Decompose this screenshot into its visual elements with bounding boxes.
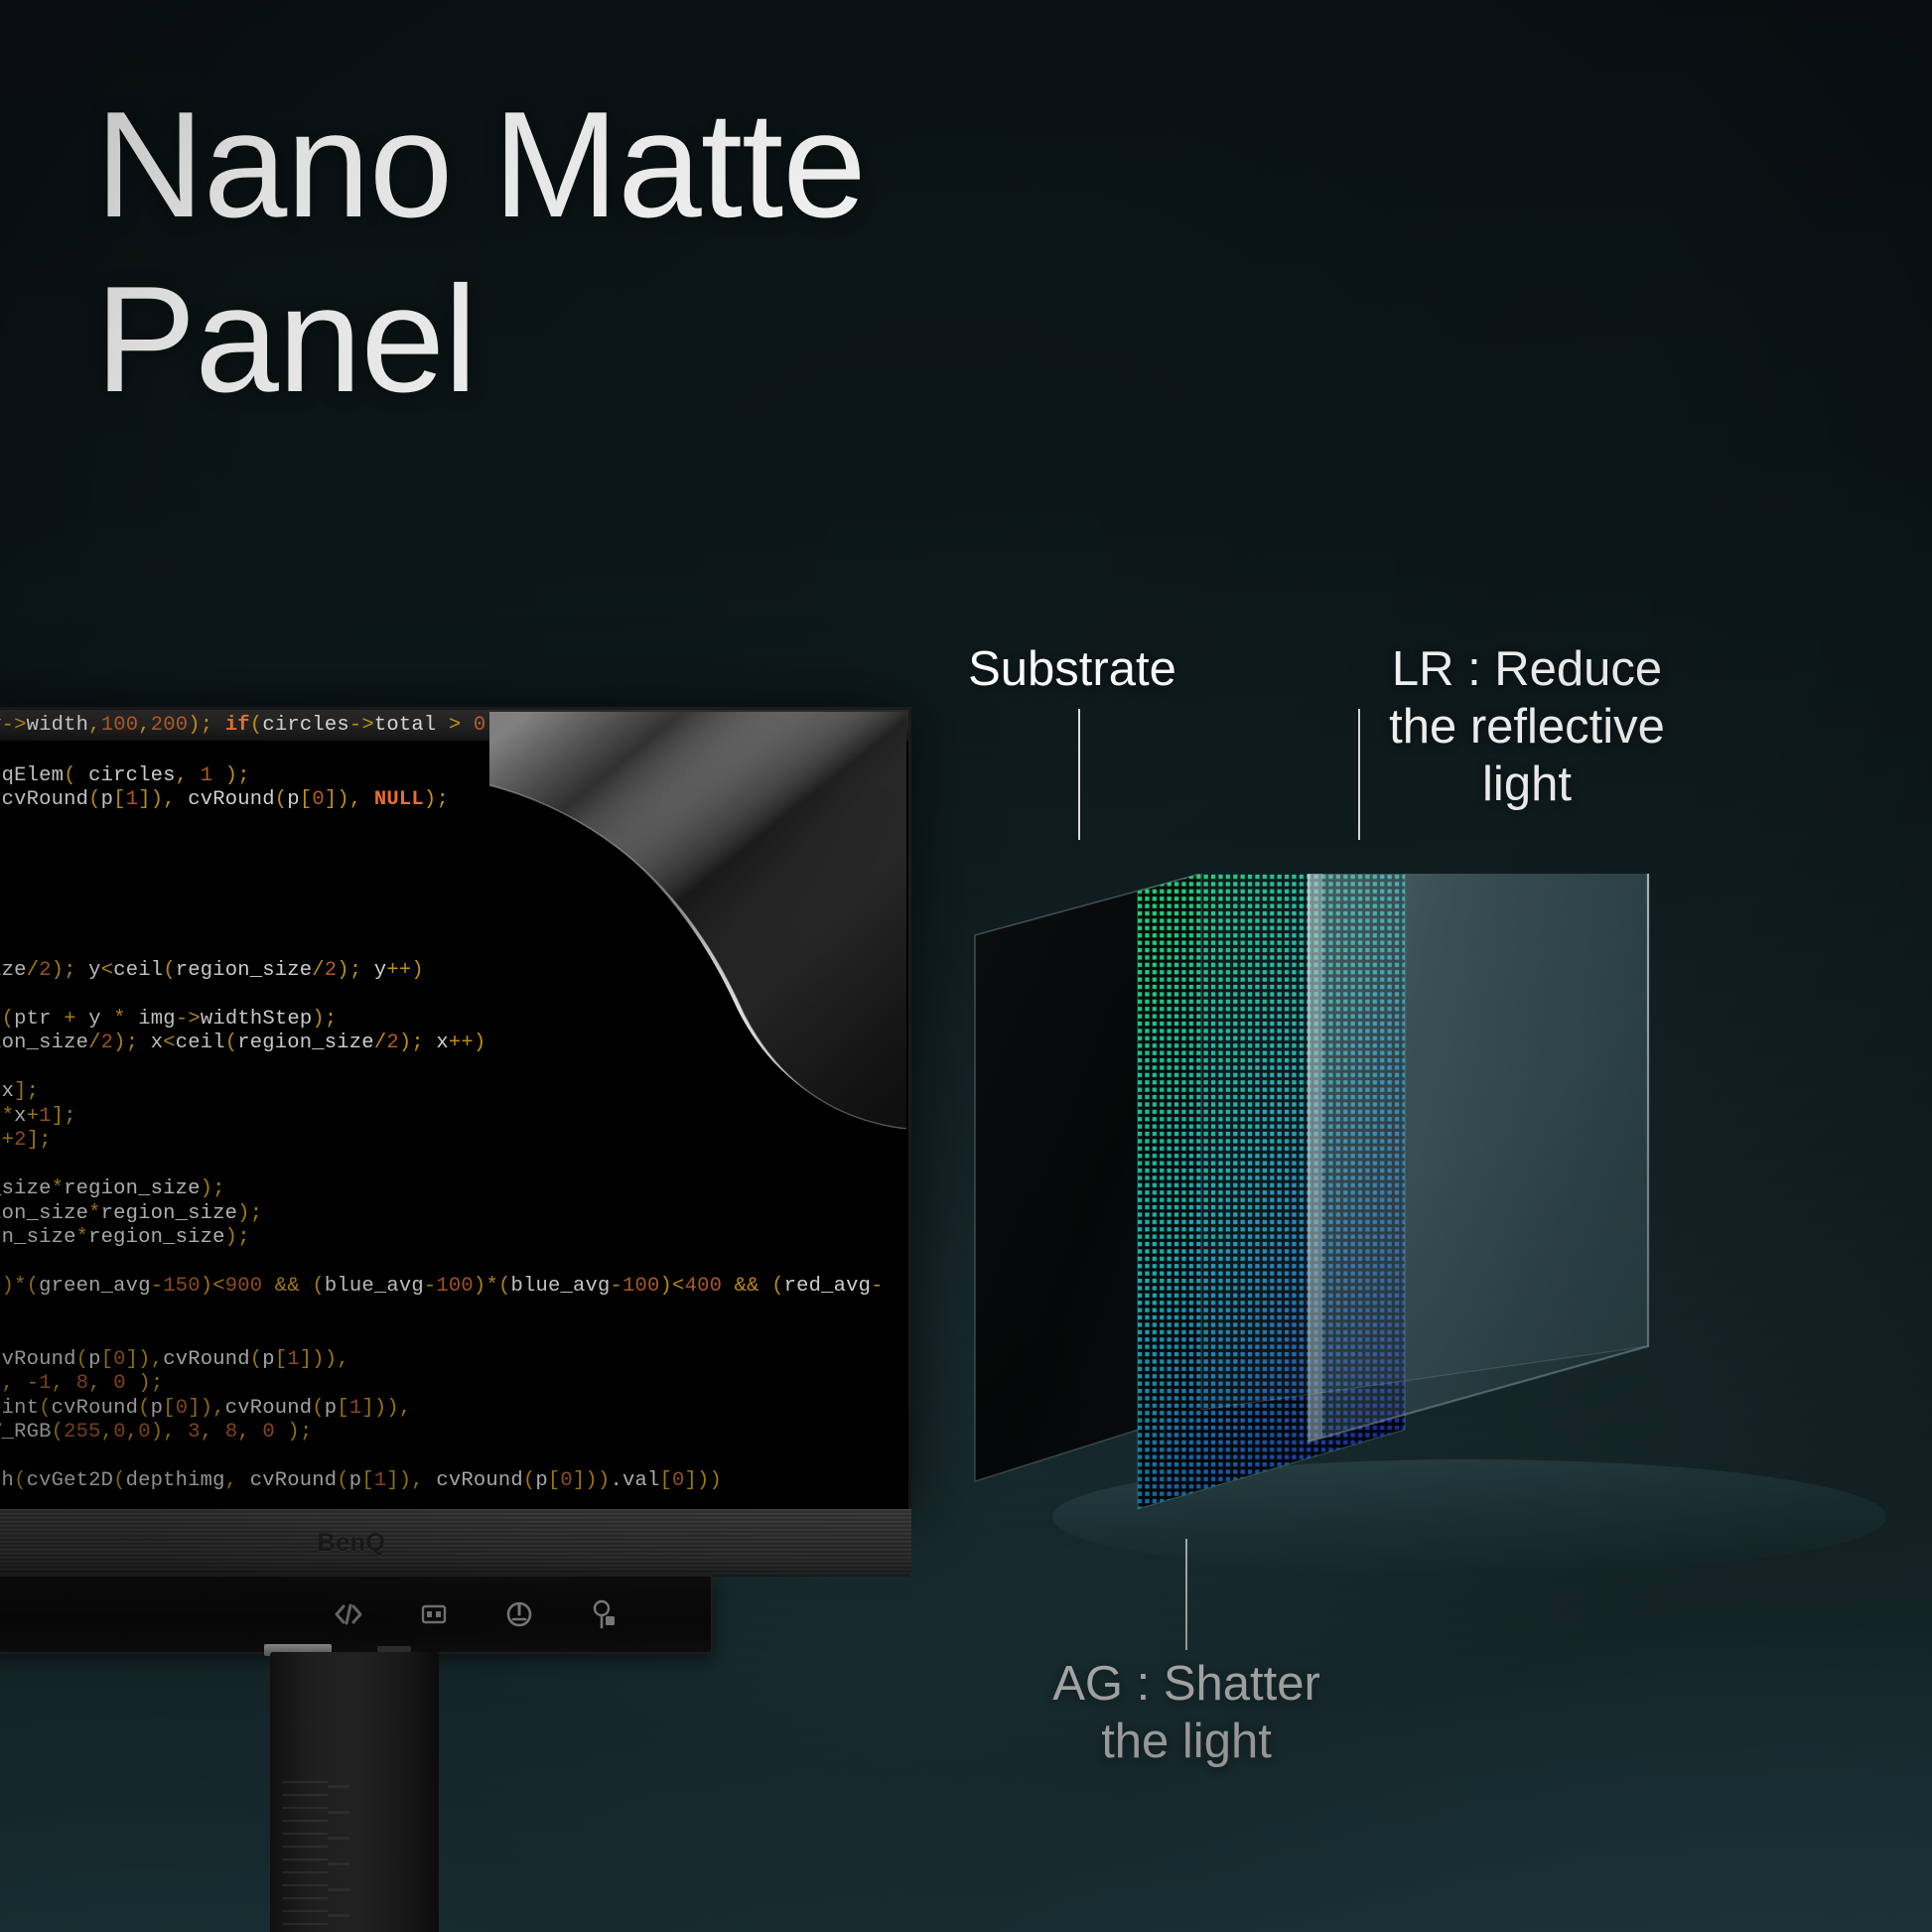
leader-line-ag — [1185, 1539, 1187, 1650]
callout-lr-line-3: light — [1259, 757, 1795, 814]
benq-logo: BenQ — [318, 1529, 386, 1558]
leader-line-lr — [1358, 709, 1360, 840]
layer-front-glass — [1201, 874, 1648, 1410]
monitor-bezel: BenQ — [0, 1509, 911, 1577]
stand-height-scale — [282, 1781, 328, 1932]
code-top-line: GRADIENT, 2, gray->width,100,200); if(ci… — [0, 713, 498, 739]
callout-ag-line-2: the light — [993, 1714, 1380, 1771]
panel-layer-diagram — [953, 874, 1932, 1588]
monitor-stand — [270, 1652, 439, 1932]
input-source-icon[interactable] — [417, 1597, 451, 1631]
page-title-line-2: Panel — [95, 252, 1187, 427]
monitor-control-bar[interactable] — [0, 1575, 713, 1654]
monitor-screen: GRADIENT, 2, gray->width,100,200); if(ci… — [0, 707, 911, 1511]
page-title: Nano Matte Panel — [95, 77, 1187, 428]
page-title-line-1: Nano Matte — [95, 77, 1187, 252]
callout-substrate: Substrate — [894, 641, 1251, 699]
monitor: GRADIENT, 2, gray->width,100,200); if(ci… — [0, 707, 913, 1739]
callout-ag-line-1: AG : Shatter — [993, 1656, 1380, 1714]
stand-height-scale-secondary — [328, 1785, 349, 1932]
callout-lr: LR : Reduce the reflective light — [1259, 641, 1795, 813]
callout-lr-line-1: LR : Reduce — [1259, 641, 1795, 699]
power-icon[interactable] — [502, 1597, 536, 1631]
leader-line-substrate — [1078, 709, 1080, 840]
code-block: = (float*)cvGetSeqElem( circles, 1 ); = … — [0, 740, 884, 1511]
code-editor: GRADIENT, 2, gray->width,100,200); if(ci… — [0, 710, 908, 1511]
callout-substrate-line-1: Substrate — [894, 641, 1251, 699]
callout-lr-line-2: the reflective — [1259, 699, 1795, 757]
menu-icon[interactable] — [588, 1597, 621, 1631]
callout-ag: AG : Shatter the light — [993, 1656, 1380, 1771]
hdr-mode-icon[interactable] — [332, 1597, 365, 1631]
poster-stage: Nano Matte Panel GRADIENT, 2, gray->widt… — [0, 0, 1932, 1932]
